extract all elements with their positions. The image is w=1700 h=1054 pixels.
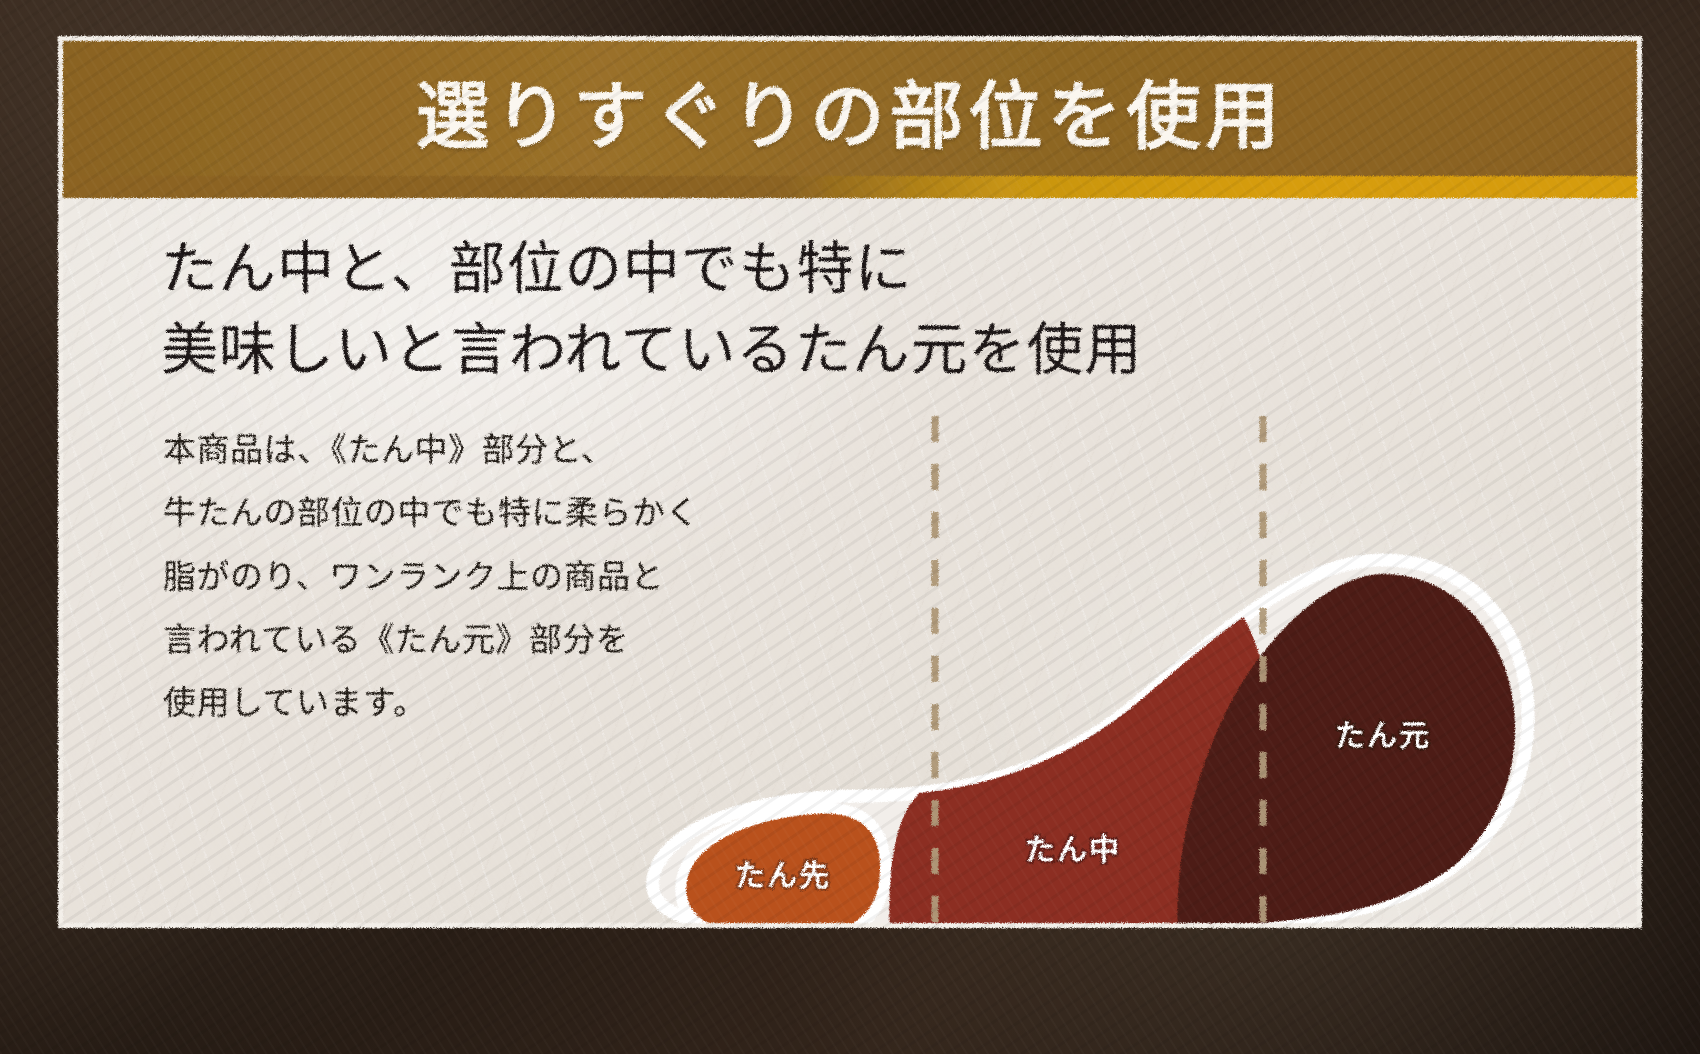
label-tan-moto: たん元: [1335, 720, 1431, 753]
label-tan-naka: たん中: [1025, 834, 1121, 867]
headline-line-1: たん中と、部位の中でも特に: [161, 230, 1142, 311]
beef-tongue-diagram: たん先 たん中 たん元 この部分を使用: [623, 398, 1583, 923]
header-title: 選りすぐりの部位を使用: [416, 81, 1285, 155]
body-line-3: 脂がのり、ワンランク上の商品と: [163, 547, 699, 610]
body-line-1: 本商品は、《たん中》部分と、: [163, 420, 699, 483]
page-backdrop: 選りすぐりの部位を使用 たん中と、部位の中でも特に 美味しいと言われているたん元…: [0, 0, 1700, 1054]
content-frame: 選りすぐりの部位を使用 たん中と、部位の中でも特に 美味しいと言われているたん元…: [58, 36, 1642, 928]
header-banner: 選りすぐりの部位を使用: [63, 41, 1637, 198]
body-line-4: 言われている《たん元》部分を: [163, 610, 699, 673]
body-line-2: 牛たんの部位の中でも特に柔らかく: [163, 483, 699, 546]
label-tan-saki: たん先: [735, 860, 831, 893]
content-panel: たん中と、部位の中でも特に 美味しいと言われているたん元を使用 本商品は、《たん…: [63, 198, 1637, 923]
headline-block: たん中と、部位の中でも特に 美味しいと言われているたん元を使用: [161, 230, 1142, 392]
body-text-block: 本商品は、《たん中》部分と、 牛たんの部位の中でも特に柔らかく 脂がのり、ワンラ…: [163, 420, 699, 737]
body-line-5: 使用しています。: [163, 673, 699, 736]
headline-line-2: 美味しいと言われているたん元を使用: [161, 311, 1142, 392]
